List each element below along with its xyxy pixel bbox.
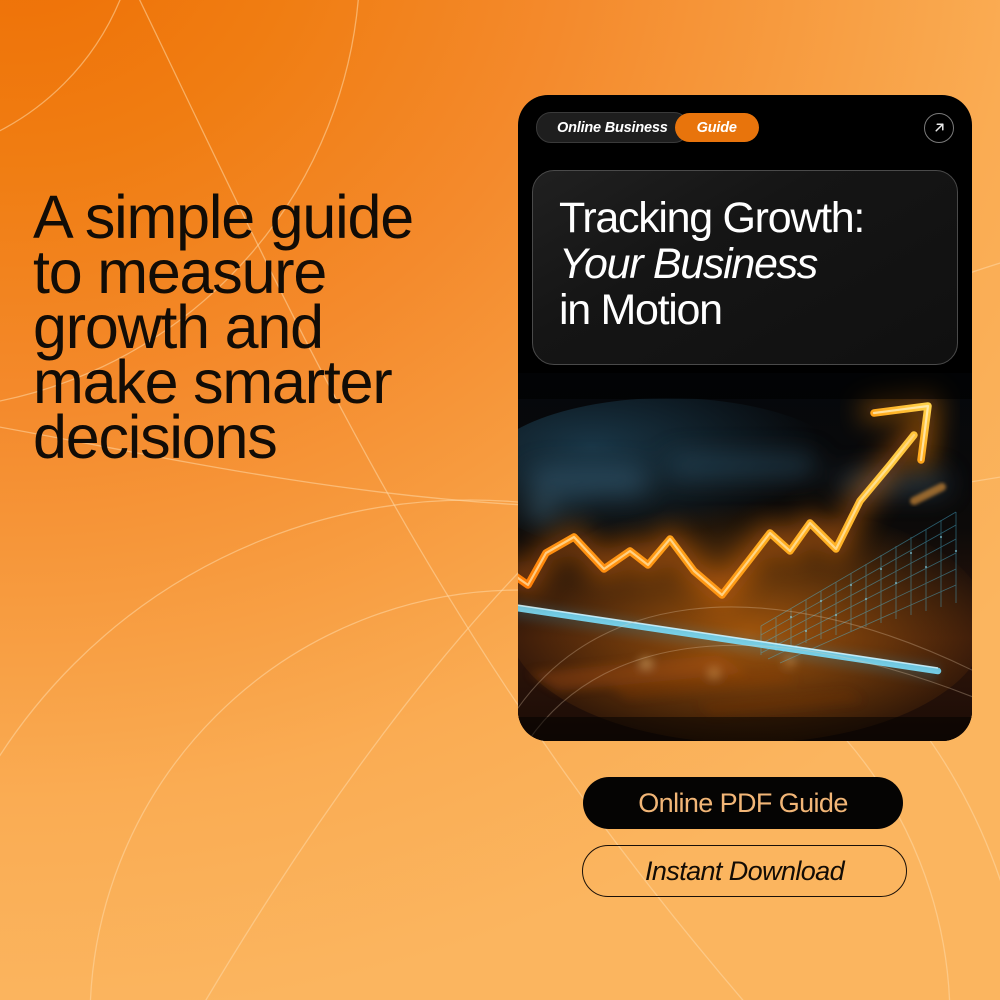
growth-chart-image bbox=[518, 373, 972, 741]
instant-download-button[interactable]: Instant Download bbox=[582, 845, 907, 897]
page-title: A simple guide to measure growth and mak… bbox=[33, 190, 503, 465]
card-title-line-3: in Motion bbox=[559, 287, 931, 333]
arrow-up-right-icon bbox=[932, 120, 947, 135]
open-link-button[interactable] bbox=[924, 113, 954, 143]
card-title-line-2: Your Business bbox=[559, 241, 931, 287]
card-topbar: Online Business Guide bbox=[518, 95, 972, 160]
card-title-panel: Tracking Growth: Your Business in Motion bbox=[532, 170, 958, 365]
poster-canvas: A simple guide to measure growth and mak… bbox=[0, 0, 1000, 1000]
growth-chart-graphic bbox=[518, 373, 972, 741]
online-pdf-guide-button[interactable]: Online PDF Guide bbox=[583, 777, 903, 829]
tag-online-business[interactable]: Online Business bbox=[536, 112, 689, 143]
preview-card: Online Business Guide Tracking Growth: Y… bbox=[518, 95, 972, 741]
card-title-line-1: Tracking Growth: bbox=[559, 195, 931, 241]
badge-guide[interactable]: Guide bbox=[675, 113, 759, 142]
